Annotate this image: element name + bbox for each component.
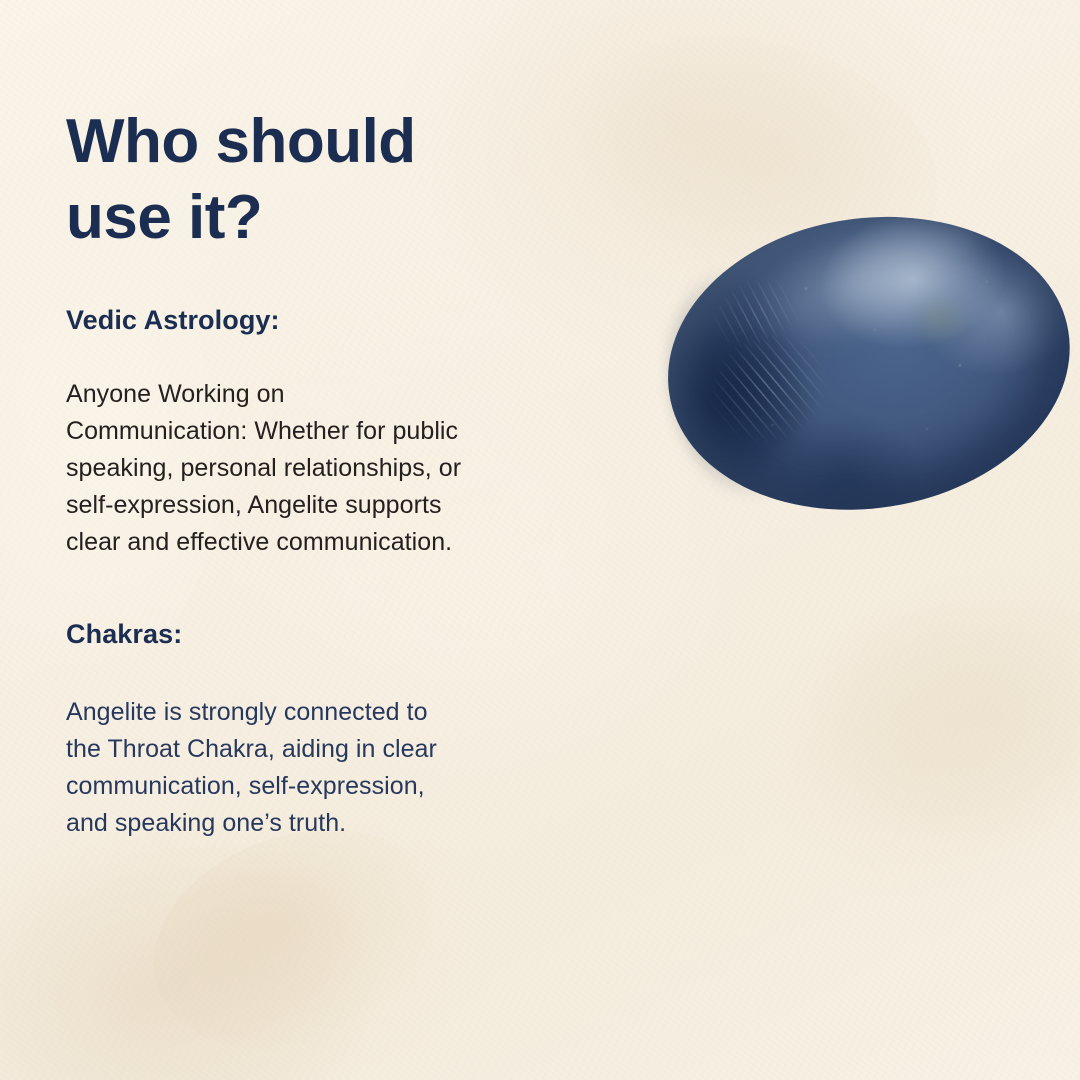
section-vedic-astrology: Vedic Astrology: Anyone Working on Commu… [66, 303, 586, 561]
section-chakras: Chakras: Angelite is strongly connected … [66, 617, 586, 842]
section-heading-vedic-astrology: Vedic Astrology: [66, 303, 586, 338]
page-title: Who should use it? [66, 104, 586, 255]
section-body-chakras: Angelite is strongly connected to the Th… [66, 694, 536, 842]
stone-graphic [645, 178, 1080, 561]
section-body-vedic-astrology: Anyone Working on Communication: Whether… [66, 376, 566, 561]
paper-blotch [760, 600, 1080, 900]
angelite-stone-image [668, 208, 1072, 532]
section-heading-chakras: Chakras: [66, 617, 586, 652]
content-column: Who should use it? Vedic Astrology: Anyo… [66, 104, 586, 842]
slide-canvas: Who should use it? Vedic Astrology: Anyo… [0, 0, 1080, 1080]
